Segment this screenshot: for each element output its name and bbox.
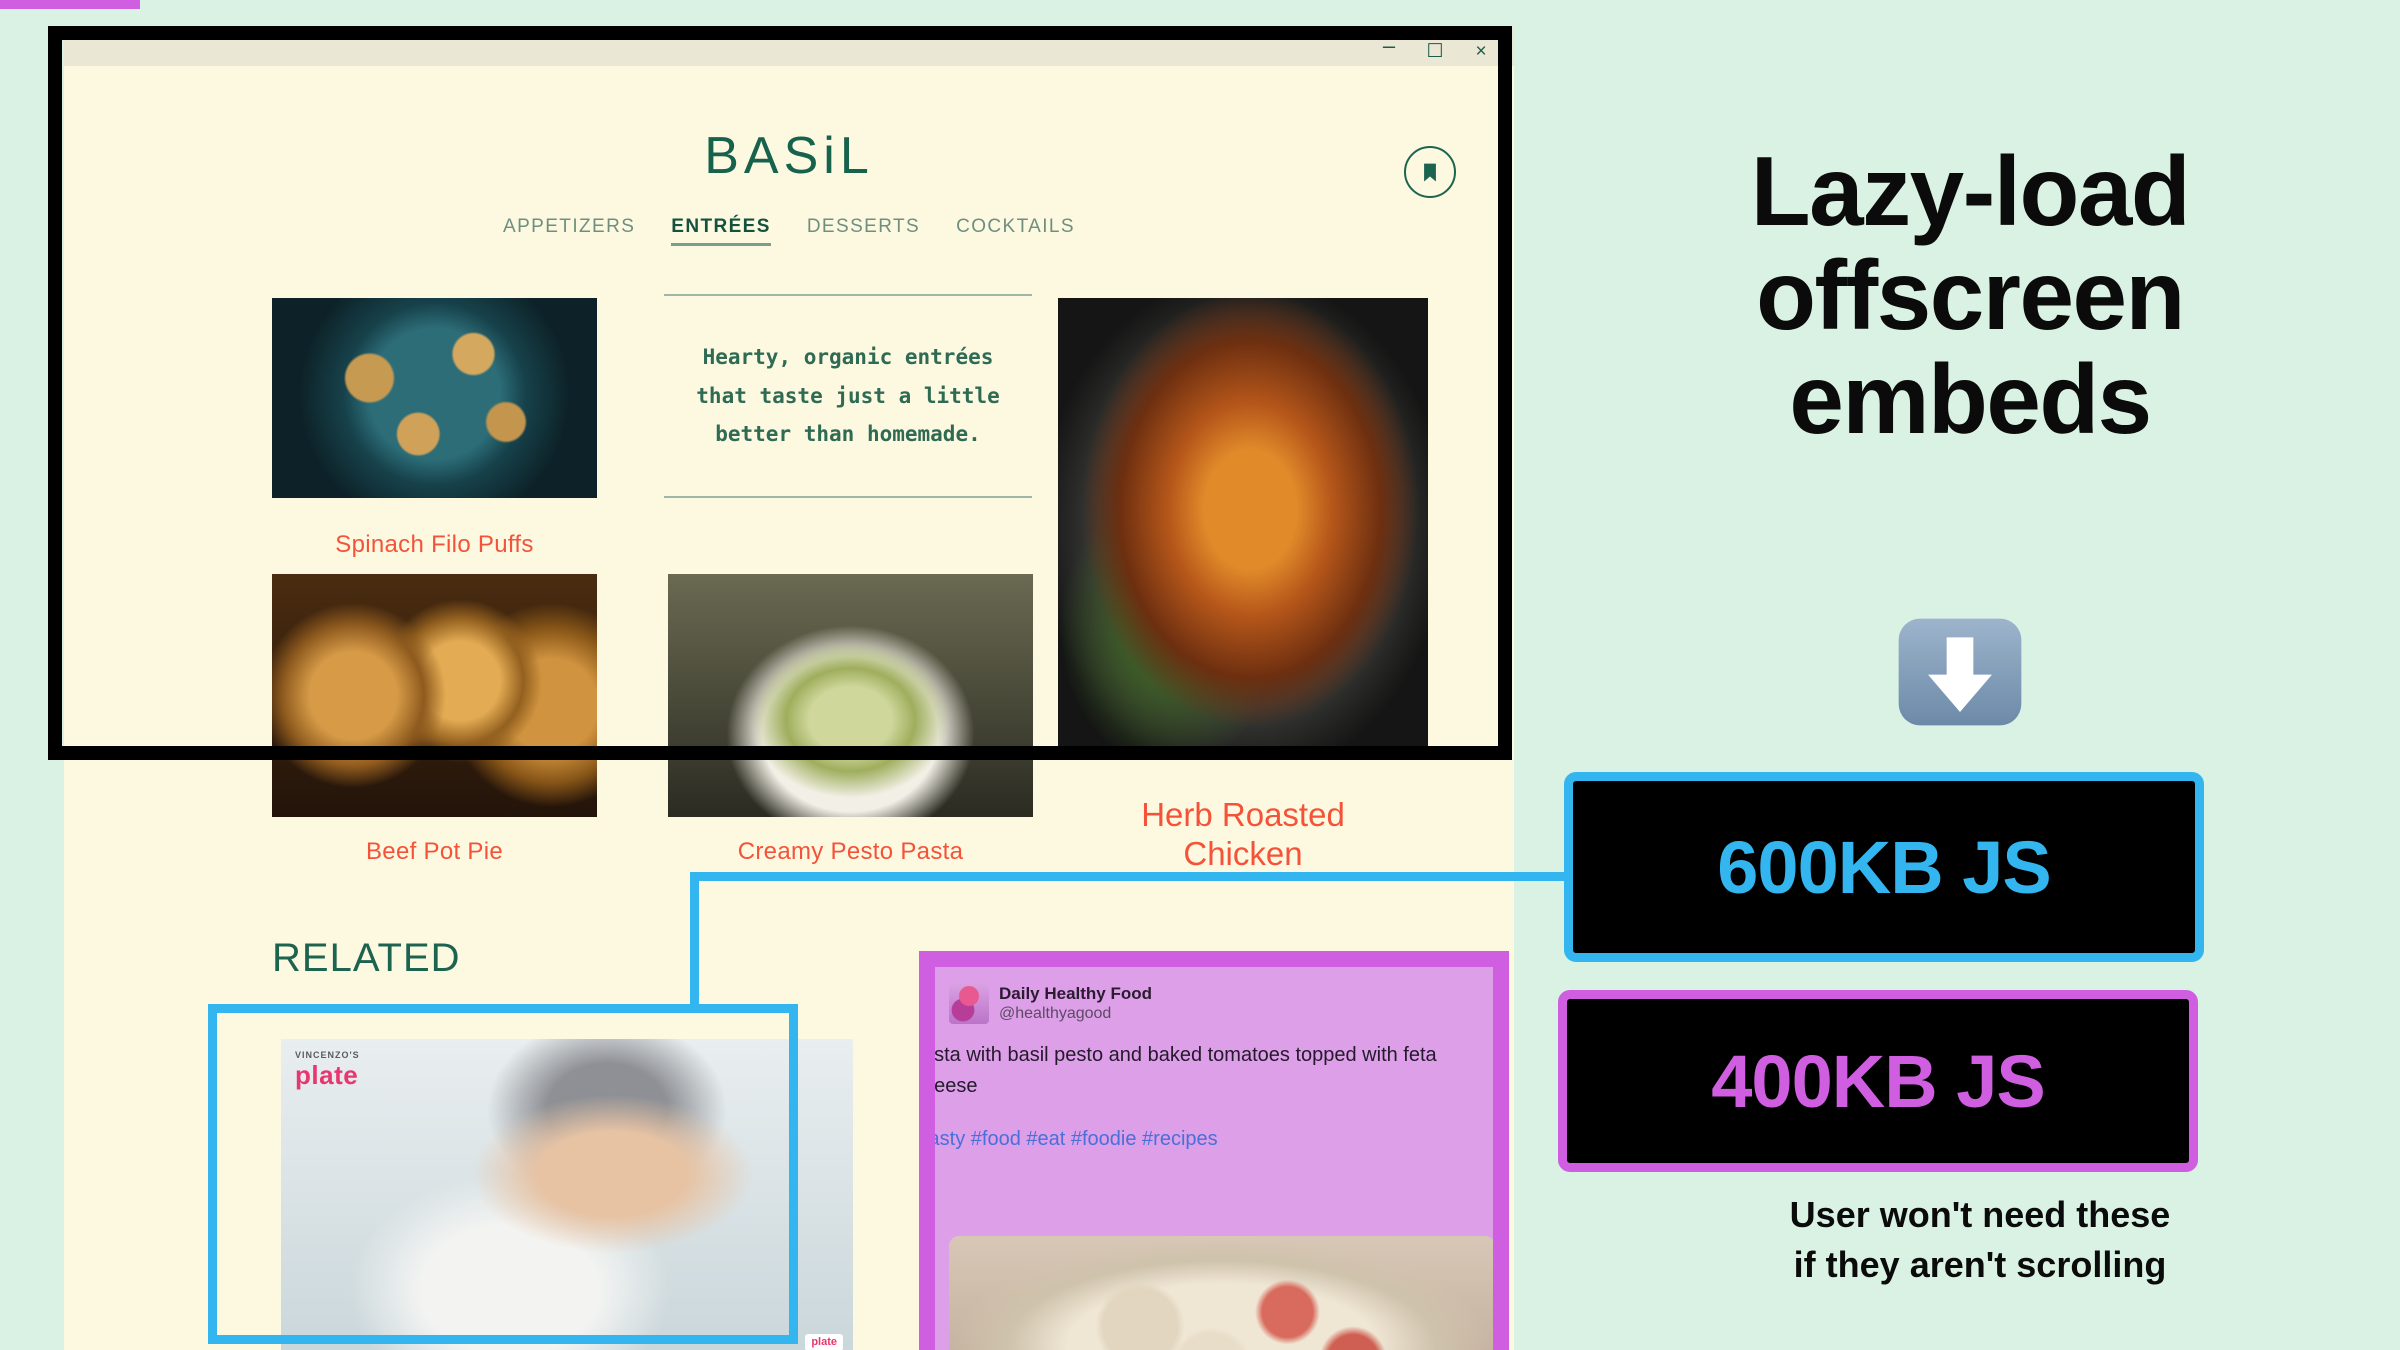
dish-photo-herb-roasted-chicken[interactable]: [1058, 298, 1428, 758]
nav-item-desserts[interactable]: DESSERTS: [807, 216, 920, 246]
dish-caption-line-1: Herb Roasted: [1141, 796, 1345, 833]
annotation-headline: Lazy-load offscreen embeds: [1640, 140, 2300, 452]
bookmark-icon[interactable]: [1404, 146, 1456, 198]
dish-caption-line-2: Chicken: [1183, 835, 1302, 872]
tagline-panel: Hearty, organic entrées that taste just …: [664, 294, 1032, 498]
site-logo: BASiL: [64, 126, 1514, 186]
maximize-icon[interactable]: ☐: [1424, 40, 1446, 62]
tagline-line-1: Hearty, organic entrées: [703, 345, 994, 369]
connector-line-video: [690, 872, 1570, 1012]
nav-item-entrees[interactable]: ENTRÉES: [671, 216, 771, 246]
badge-600kb-js: 600KB JS: [1564, 772, 2204, 962]
tagline-line-2: that taste just a little: [696, 384, 999, 408]
annotation-footnote: User won't need these if they aren't scr…: [1640, 1190, 2320, 1289]
tweet-body-line-2: heese: [935, 1071, 1493, 1102]
dish-caption-beef-pot-pie: Beef Pot Pie: [272, 838, 597, 866]
footnote-line-1: User won't need these: [1640, 1190, 2320, 1240]
close-icon[interactable]: ×: [1470, 40, 1492, 62]
dish-photo-beef-pot-pie[interactable]: [272, 574, 597, 817]
badge-600kb-label: 600KB JS: [1717, 825, 2050, 910]
tweet-card: Daily Healthy Food @healthyagood asta wi…: [935, 967, 1493, 1350]
dish-photo-spinach-filo-puffs[interactable]: [272, 298, 597, 498]
window-title-bar: – ☐ ×: [64, 26, 1514, 66]
dish-caption-spinach-filo-puffs: Spinach Filo Puffs: [272, 531, 597, 559]
tagline-line-3: better than homemade.: [715, 422, 981, 446]
headline-line-1: Lazy-load: [1640, 140, 2300, 244]
video-embed-highlight: [208, 1004, 798, 1344]
corner-watermark: plate: [805, 1334, 843, 1350]
headline-line-3: embeds: [1640, 348, 2300, 452]
nav-item-appetizers[interactable]: APPETIZERS: [503, 216, 635, 246]
tweet-hashtags: tasty #food #eat #foodie #recipes: [935, 1128, 1493, 1151]
window-controls: – ☐ ×: [1378, 35, 1492, 67]
dish-caption-creamy-pesto-pasta: Creamy Pesto Pasta: [668, 838, 1033, 866]
minimize-icon[interactable]: –: [1378, 35, 1400, 67]
tweet-image[interactable]: [949, 1236, 1493, 1350]
dish-photo-creamy-pesto-pasta[interactable]: [668, 574, 1033, 817]
tweet-body-line-1: asta with basil pesto and baked tomatoes…: [935, 1040, 1493, 1071]
connector-line-tweet: [0, 0, 140, 9]
tweet-body: asta with basil pesto and baked tomatoes…: [935, 1040, 1493, 1102]
site-nav: APPETIZERS ENTRÉES DESSERTS COCKTAILS: [64, 216, 1514, 246]
related-heading: RELATED: [272, 936, 461, 981]
badge-400kb-js: 400KB JS: [1558, 990, 2198, 1172]
footnote-line-2: if they aren't scrolling: [1640, 1240, 2320, 1290]
dish-caption-herb-roasted-chicken: Herb Roasted Chicken: [1058, 796, 1428, 874]
slide-canvas: – ☐ × BASiL APPETIZERS ENTRÉES DESSERTS …: [0, 0, 2400, 1350]
headline-line-2: offscreen: [1640, 244, 2300, 348]
download-arrow-icon: [1892, 616, 2028, 728]
badge-400kb-label: 400KB JS: [1711, 1039, 2044, 1124]
nav-item-cocktails[interactable]: COCKTAILS: [956, 216, 1075, 246]
